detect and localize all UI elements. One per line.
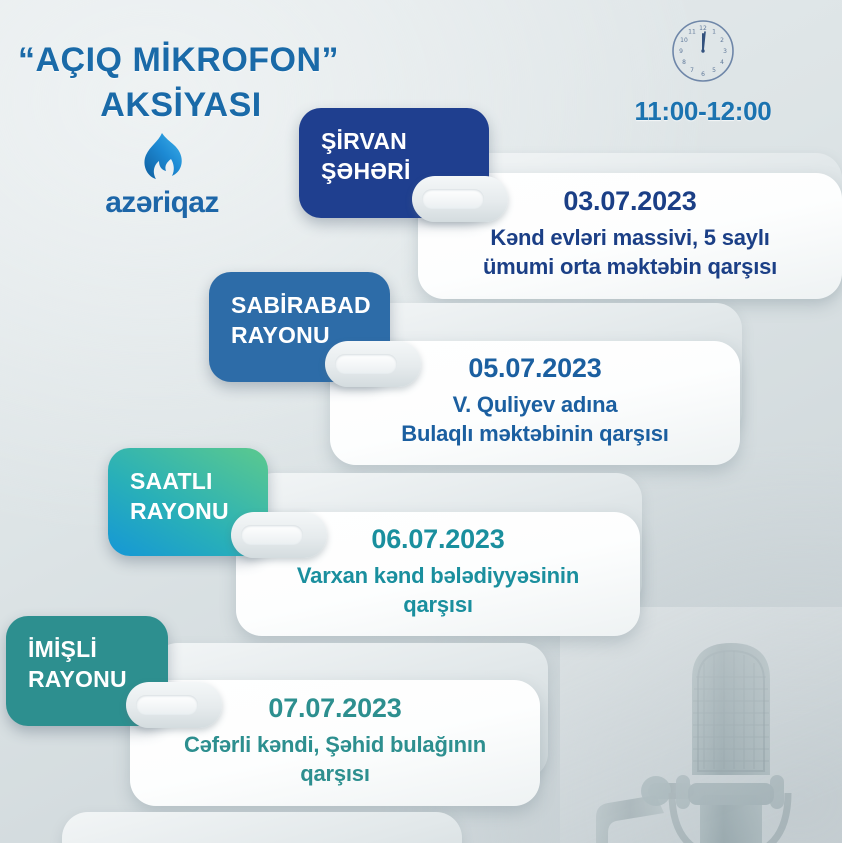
tag-connector <box>325 341 421 387</box>
event-address: Cəfərli kəndi, Şəhid bulağının qarşısı <box>184 731 486 788</box>
svg-text:2: 2 <box>720 37 724 44</box>
tag-connector <box>412 176 508 222</box>
svg-text:12: 12 <box>699 25 707 32</box>
microphone-icon <box>560 607 842 843</box>
event-address: Kənd evləri massivi, 5 saylı ümumi orta … <box>483 224 777 281</box>
azeriqaz-logo: azəriqaz <box>72 132 252 220</box>
region-name-line-1: SAATLI <box>130 466 246 496</box>
svg-text:1: 1 <box>712 29 716 36</box>
event-address-line-2: Bulaqlı məktəbinin qarşısı <box>401 421 668 446</box>
card-backdrop-partial <box>62 812 462 843</box>
svg-text:10: 10 <box>680 37 688 44</box>
svg-text:8: 8 <box>682 59 686 66</box>
region-name-line-1: SABİRABAD <box>231 290 368 320</box>
svg-text:5: 5 <box>712 67 716 74</box>
time-block: 12 1 2 3 4 5 6 7 8 9 10 11 11:00-12:00 <box>578 18 828 127</box>
event-address: Varxan kənd bələdiyyəsinin qarşısı <box>297 562 579 619</box>
region-name-line-1: İMİŞLİ <box>28 634 146 664</box>
event-address: V. Quliyev adına Bulaqlı məktəbinin qarş… <box>401 391 668 448</box>
svg-text:9: 9 <box>679 48 683 55</box>
event-address-line-1: Varxan kənd bələdiyyəsinin <box>297 563 579 588</box>
event-date: 03.07.2023 <box>563 186 696 217</box>
event-address-line-2: ümumi orta məktəbin qarşısı <box>483 254 777 279</box>
tag-connector <box>126 682 222 728</box>
clock-icon: 12 1 2 3 4 5 6 7 8 9 10 11 <box>670 18 736 84</box>
azeriqaz-wordmark: azəriqaz <box>72 186 252 220</box>
svg-text:4: 4 <box>720 59 724 66</box>
event-address-line-2: qarşısı <box>403 592 473 617</box>
time-range-label: 11:00-12:00 <box>578 96 828 127</box>
event-address-line-2: qarşısı <box>300 761 370 786</box>
region-name-line-1: ŞİRVAN <box>321 126 467 156</box>
event-date: 06.07.2023 <box>371 524 504 555</box>
svg-text:6: 6 <box>701 71 705 78</box>
event-date: 07.07.2023 <box>268 693 401 724</box>
svg-text:3: 3 <box>723 48 727 55</box>
event-address-line-1: Kənd evləri massivi, 5 saylı <box>490 225 769 250</box>
event-address-line-1: V. Quliyev adına <box>453 392 618 417</box>
svg-text:11: 11 <box>688 29 696 36</box>
event-address-line-1: Cəfərli kəndi, Şəhid bulağının <box>184 732 486 757</box>
tag-connector <box>231 512 327 558</box>
region-name-line-2: RAYONU <box>130 496 246 526</box>
region-name-line-2: RAYONU <box>28 664 146 694</box>
flame-icon <box>140 132 184 182</box>
event-date: 05.07.2023 <box>468 353 601 384</box>
svg-text:7: 7 <box>690 67 694 74</box>
page-title-line-1: “AÇIQ MİKROFON” <box>14 38 414 83</box>
